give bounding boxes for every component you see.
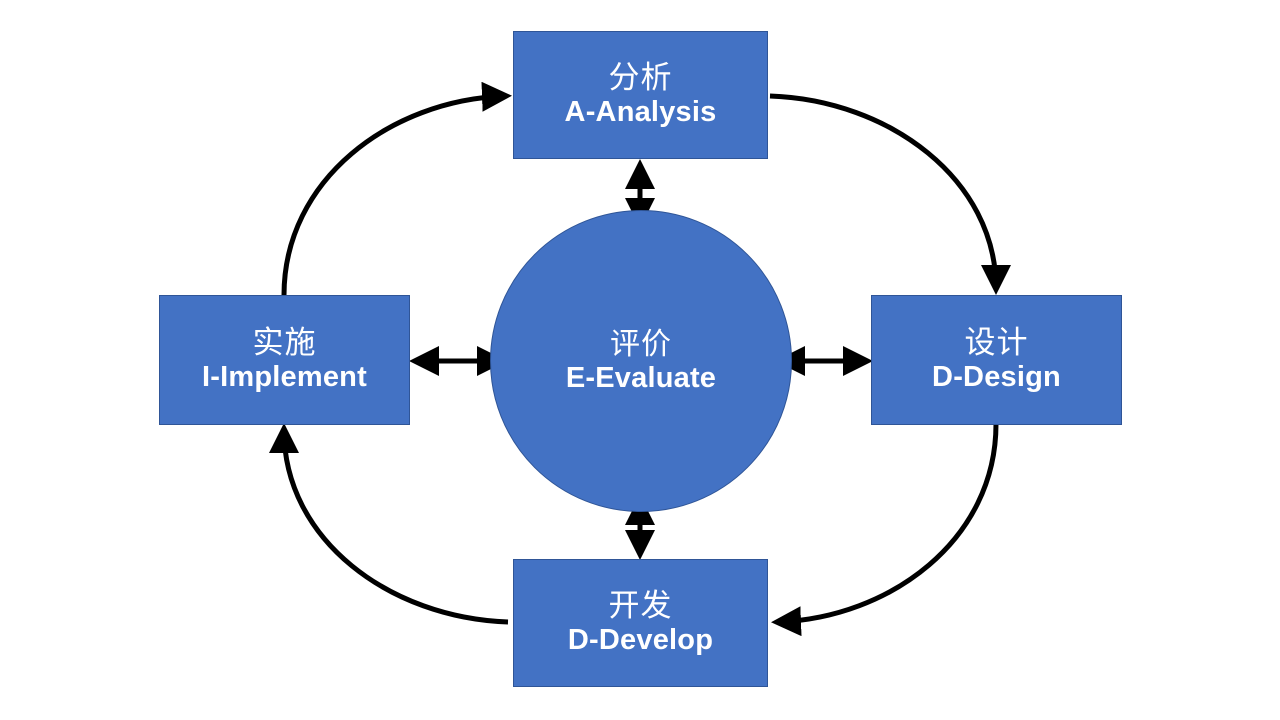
arrow-design-to-develop <box>778 424 996 622</box>
node-evaluate[interactable]: 评价 E-Evaluate <box>490 210 792 512</box>
node-evaluate-label-cn: 评价 <box>610 329 672 361</box>
node-implement-label-cn: 实施 <box>253 327 317 360</box>
node-develop[interactable]: 开发 D-Develop <box>513 559 768 687</box>
node-develop-label-en: D-Develop <box>568 625 713 656</box>
node-develop-label-cn: 开发 <box>609 590 673 623</box>
node-implement-label-en: I-Implement <box>202 362 367 393</box>
node-analysis-label-cn: 分析 <box>609 62 673 95</box>
node-implement[interactable]: 实施 I-Implement <box>159 295 410 425</box>
arrow-develop-to-implement <box>284 430 508 622</box>
node-evaluate-label-en: E-Evaluate <box>566 363 716 394</box>
node-design-label-en: D-Design <box>932 362 1061 393</box>
node-analysis[interactable]: 分析 A-Analysis <box>513 31 768 159</box>
diagram-canvas: 分析 A-Analysis 设计 D-Design 开发 D-Develop 实… <box>0 0 1280 720</box>
arrow-analysis-to-design <box>770 96 996 288</box>
node-design[interactable]: 设计 D-Design <box>871 295 1122 425</box>
node-analysis-label-en: A-Analysis <box>565 97 717 128</box>
arrow-implement-to-analysis <box>284 96 505 295</box>
node-design-label-cn: 设计 <box>965 327 1029 360</box>
